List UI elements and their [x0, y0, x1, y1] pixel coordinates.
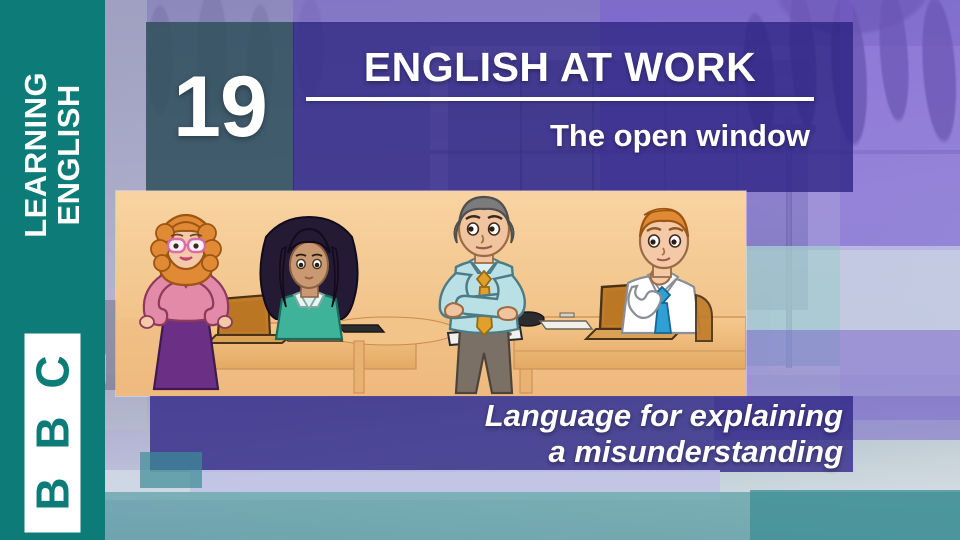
cartoon-scene	[116, 191, 746, 396]
bbc-logo-box-b1: B	[25, 456, 81, 533]
bbc-logo: C B B	[14, 344, 91, 522]
cartoon-illustration	[116, 191, 746, 396]
series-title: ENGLISH AT WORK	[300, 44, 820, 91]
episode-title: The open window	[300, 118, 820, 154]
episode-number: 19	[146, 22, 294, 192]
overlay-block-teal-corner	[750, 490, 960, 540]
header-panel-highlight	[293, 0, 853, 24]
strapline-line-2: ENGLISH	[53, 72, 86, 238]
bbc-learning-english-sidebar: LEARNING ENGLISH C B B	[0, 0, 105, 540]
caption-line-1: Language for explaining	[150, 398, 843, 434]
caption-line-2: a misunderstanding	[150, 434, 843, 470]
title-underline	[306, 97, 814, 101]
learning-english-strapline: LEARNING ENGLISH	[0, 0, 105, 310]
video-thumbnail: 19 ENGLISH AT WORK The open window	[0, 0, 960, 540]
overlay-block-teal-small	[140, 452, 202, 488]
strapline-line-1: LEARNING	[20, 72, 53, 238]
caption-text: Language for explaining a misunderstandi…	[150, 398, 843, 469]
